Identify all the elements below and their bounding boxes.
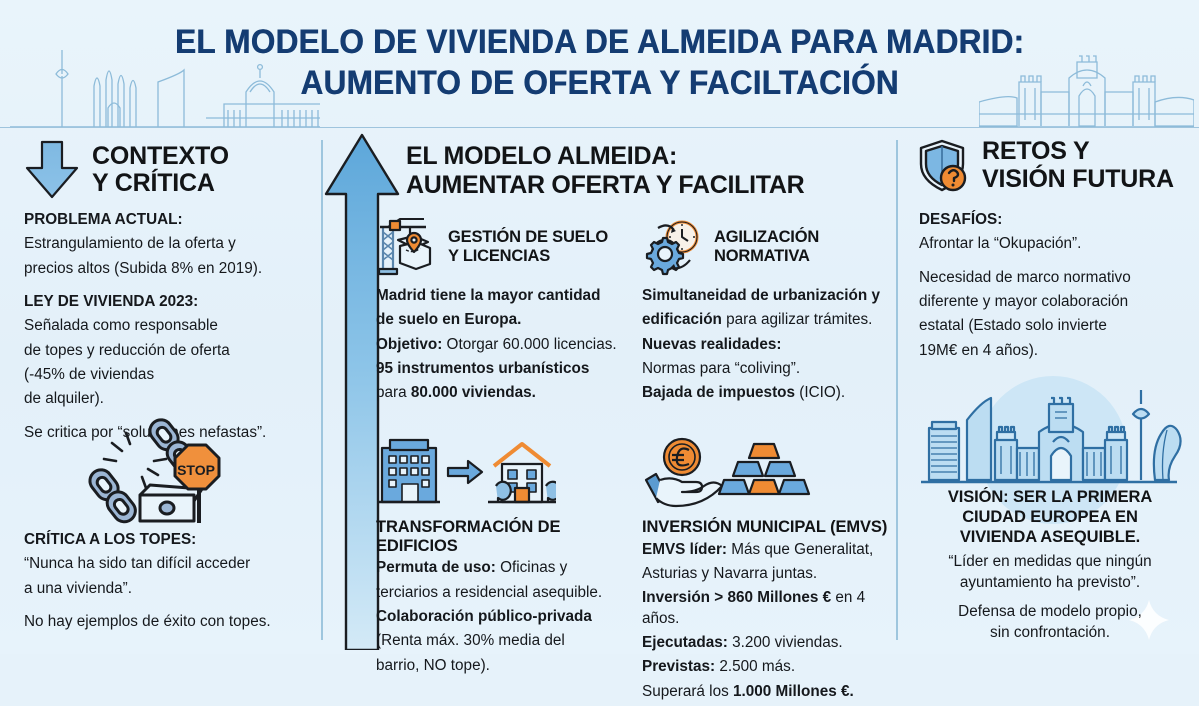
c2-l1: terciarios a residencial asequible.	[376, 584, 602, 601]
c0-l2b: Objetivo:	[376, 336, 442, 353]
c2-l3: (Renta máx. 30% media del	[376, 632, 565, 649]
broken-chain-stop-sign-money-icon: STOP	[78, 413, 228, 528]
cell-3-title: INVERSIÓN MUNICIPAL (EMVS)	[642, 518, 892, 537]
c3-l5b: 1.000 Millones €.	[733, 683, 854, 700]
cell-1-body: Simultaneidad de urbanización y edificac…	[642, 286, 892, 404]
left-block-1-line-3: de alquiler).	[24, 389, 314, 409]
gear-clock-icon	[642, 216, 704, 278]
c3-l0r: Más que Generalitat,	[727, 541, 873, 558]
c0-l0: Madrid tiene la mayor cantidad	[376, 287, 600, 304]
c3-l3r: 3.200 viviendas.	[728, 634, 843, 651]
vision-quote: “Líder en medidas que ningún ayuntamient…	[909, 552, 1191, 593]
right-column-title: RETOS Y VISIÓN FUTURA	[982, 138, 1174, 193]
cell-transformacion-de-edificios: TRANSFORMACIÓN DE EDIFICIOS Permuta de u…	[376, 436, 626, 706]
c3-l4r: 2.500 más.	[715, 658, 795, 675]
cell-0-title: GESTIÓN DE SUELO Y LICENCIAS	[448, 228, 608, 266]
c3-l1: Asturias y Navarra juntas.	[642, 565, 817, 582]
c3-l5r: Superará los	[642, 683, 733, 700]
page-title: EL MODELO DE VIVIENDA DE ALMEIDA PARA MA…	[42, 22, 1157, 105]
cell-inversion-municipal: INVERSIÓN MUNICIPAL (EMVS) EMVS líder: M…	[642, 436, 892, 706]
c0-l2r: Otorgar 60.000 licencias.	[442, 336, 616, 353]
cell-3-body: EMVS líder: Más que Generalitat, Asturia…	[642, 540, 892, 702]
c1-l4r: (ICIO).	[795, 384, 845, 401]
left-bottom-line-0: “Nunca ha sido tan difícil acceder	[24, 554, 316, 574]
c1-l1r: para agilizar trámites.	[722, 311, 872, 328]
left-column-header: CONTEXTO Y CRÍTICA	[24, 140, 304, 200]
left-block-1-label: LEY DE VIVIENDA 2023:	[24, 293, 198, 310]
column-contexto-y-critica: CONTEXTO Y CRÍTICA PROBLEMA ACTUAL: Estr…	[0, 128, 322, 654]
right-column-vision: VISIÓN: SER LA PRIMERA CIUDAD EUROPEA EN…	[909, 488, 1191, 643]
cell-1-header: AGILIZACIÓN NORMATIVA	[642, 216, 892, 278]
hand-euro-coin-money-stack-icon	[642, 436, 832, 510]
infographic-canvas: EL MODELO DE VIVIENDA DE ALMEIDA PARA MA…	[0, 0, 1199, 654]
crane-map-pin-icon	[376, 216, 438, 278]
left-bottom-line-2: No hay ejemplos de éxito con topes.	[24, 612, 316, 632]
c1-l0: Simultaneidad de urbanización y	[642, 287, 880, 304]
right-block-0-line-0: Afrontar la “Okupación”.	[919, 234, 1199, 254]
c0-l4b: 80.000 viviendas.	[411, 384, 536, 401]
c3-l4b: Previstas:	[642, 658, 715, 675]
c2-l4: barrio, NO tope).	[376, 657, 490, 674]
cell-0-body: Madrid tiene la mayor cantidad de suelo …	[376, 286, 626, 404]
left-block-1-line-0: Señalada como responsable	[24, 316, 314, 336]
madrid-skyline-cibeles-icon	[915, 386, 1183, 488]
left-column-title: CONTEXTO Y CRÍTICA	[92, 143, 229, 198]
vision-note: Defensa de modelo propio, sin confrontac…	[909, 602, 1191, 643]
mid-column-grid: GESTIÓN DE SUELO Y LICENCIAS Madrid tien…	[376, 216, 896, 706]
left-block-0-line-1: precios altos (Subida 8% en 2019).	[24, 259, 314, 279]
left-column-bottom-block: CRÍTICA A LOS TOPES: “Nunca ha sido tan …	[24, 530, 316, 636]
c2-l2: Colaboración público-privada	[376, 608, 592, 625]
left-block-0-label: PROBLEMA ACTUAL:	[24, 211, 183, 228]
right-column-header: RETOS Y VISIÓN FUTURA	[915, 138, 1199, 193]
mid-row-2: TRANSFORMACIÓN DE EDIFICIOS Permuta de u…	[376, 436, 896, 706]
arrow-down-icon	[24, 140, 80, 200]
building-to-house-arrow-icon	[376, 436, 556, 510]
shield-question-icon	[915, 138, 970, 193]
cell-0-header: GESTIÓN DE SUELO Y LICENCIAS	[376, 216, 626, 278]
c2-l0b: Permuta de uso:	[376, 559, 496, 576]
right-block-0-label: DESAFÍOS:	[919, 211, 1002, 228]
c3-l0b: EMVS líder:	[642, 541, 727, 558]
left-block-0-line-0: Estrangulamiento de la oferta y	[24, 234, 314, 254]
c0-l1: de suelo en Europa.	[376, 311, 521, 328]
c3-l3b: Ejecutadas:	[642, 634, 728, 651]
stop-sign-label: STOP	[177, 462, 215, 478]
left-block-1-line-1: de topes y reducción de oferta	[24, 341, 314, 361]
mid-row-1: GESTIÓN DE SUELO Y LICENCIAS Madrid tien…	[376, 216, 896, 408]
page-title-line2: AUMENTO DE OFERTA Y FACILTACIÓN	[42, 63, 1157, 104]
right-block-1-line-1: diferente y mayor colaboración	[919, 292, 1199, 312]
left-bottom-label: CRÍTICA A LOS TOPES:	[24, 531, 196, 548]
mid-column-header: EL MODELO ALMEIDA: AUMENTAR OFERTA Y FAC…	[406, 142, 876, 199]
mid-column-title: EL MODELO ALMEIDA: AUMENTAR OFERTA Y FAC…	[406, 142, 876, 199]
cell-1-title: AGILIZACIÓN NORMATIVA	[714, 228, 819, 266]
column-retos-y-vision: RETOS Y VISIÓN FUTURA DESAFÍOS: Afrontar…	[897, 128, 1199, 654]
right-column-body: DESAFÍOS: Afrontar la “Okupación”. Neces…	[919, 210, 1199, 365]
c1-l4b: Bajada de impuestos	[642, 384, 795, 401]
left-block-1-line-2: (-45% de viviendas	[24, 365, 314, 385]
page-title-line1: EL MODELO DE VIVIENDA DE ALMEIDA PARA MA…	[42, 22, 1157, 63]
c0-l3: 95 instrumentos urbanísticos	[376, 360, 589, 377]
cell-gestion-de-suelo: GESTIÓN DE SUELO Y LICENCIAS Madrid tien…	[376, 216, 626, 408]
left-column-body: PROBLEMA ACTUAL: Estrangulamiento de la …	[24, 210, 314, 447]
c1-l1b: edificación	[642, 311, 722, 328]
cell-2-body: Permuta de uso: Oficinas y terciarios a …	[376, 558, 626, 676]
c3-l2b: Inversión > 860 Millones €	[642, 589, 831, 606]
cell-agilizacion-normativa: AGILIZACIÓN NORMATIVA Simultaneidad de u…	[642, 216, 892, 408]
right-block-1-line-2: estatal (Estado solo invierte	[919, 316, 1199, 336]
left-bottom-line-1: a una vivienda”.	[24, 579, 316, 599]
column-modelo-almeida: EL MODELO ALMEIDA: AUMENTAR OFERTA Y FAC…	[322, 128, 897, 654]
c0-l4r: para	[376, 384, 411, 401]
right-block-1-line-3: 19M€ en 4 años).	[919, 341, 1199, 361]
cell-2-title: TRANSFORMACIÓN DE EDIFICIOS	[376, 518, 626, 556]
right-block-1-line-0: Necesidad de marco normativo	[919, 268, 1199, 288]
c1-l2: Nuevas realidades:	[642, 336, 781, 353]
c2-l0r: Oficinas y	[496, 559, 567, 576]
c1-l3: Normas para “coliving”.	[642, 360, 800, 377]
vision-title: VISIÓN: SER LA PRIMERA CIUDAD EUROPEA EN…	[909, 488, 1191, 547]
header: EL MODELO DE VIVIENDA DE ALMEIDA PARA MA…	[0, 0, 1199, 128]
